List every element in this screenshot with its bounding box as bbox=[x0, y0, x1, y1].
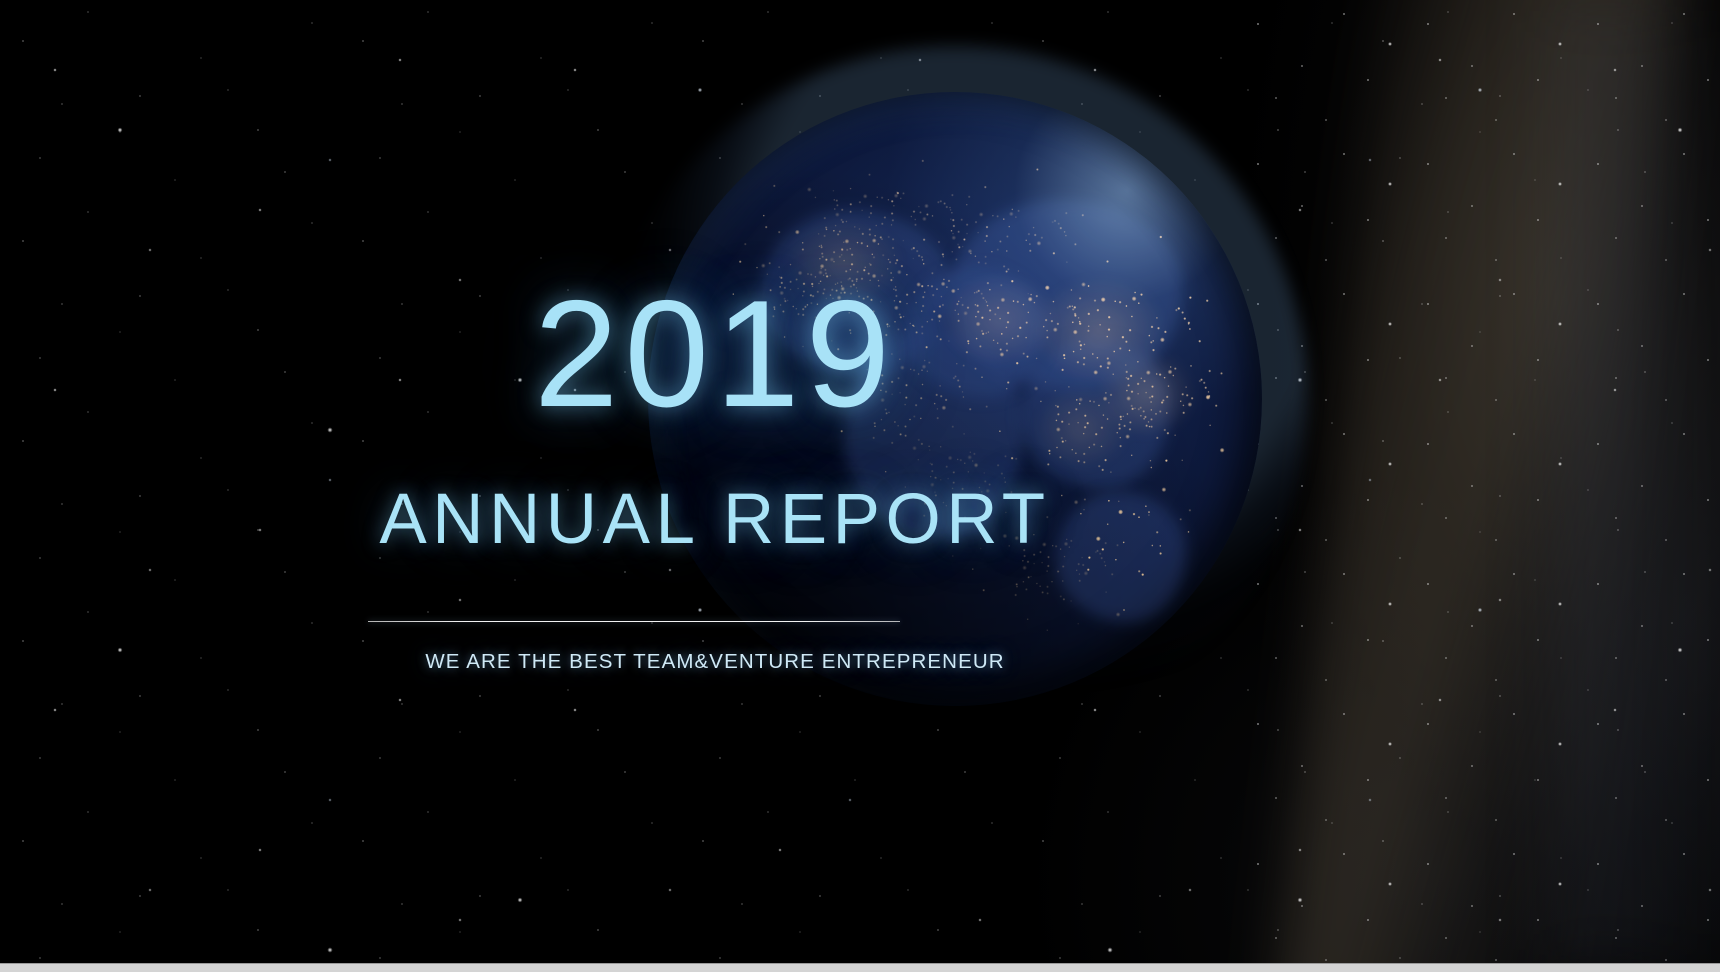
year-heading: 2019 bbox=[0, 278, 1430, 430]
subtitle-tagline: WE ARE THE BEST TEAM&VENTURE ENTREPRENEU… bbox=[0, 650, 1430, 674]
window-bottom-edge bbox=[0, 963, 1720, 972]
slide-canvas: 2019 ANNUAL REPORT WE ARE THE BEST TEAM&… bbox=[0, 0, 1720, 972]
page-title: ANNUAL REPORT bbox=[0, 484, 1430, 555]
title-divider bbox=[368, 621, 900, 622]
